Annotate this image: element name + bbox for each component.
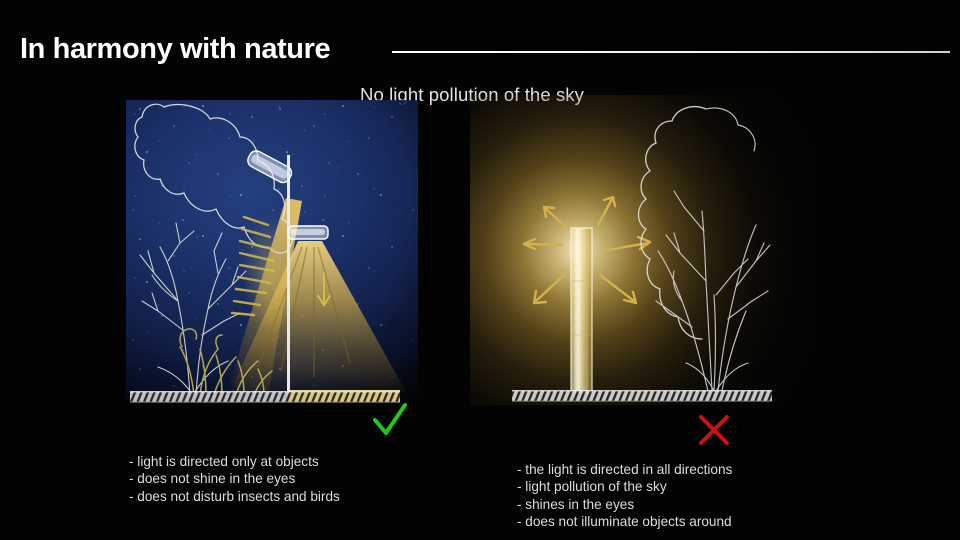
title-divider-rule	[392, 51, 950, 53]
right-drawbacks-list: - the light is directed in all direction…	[517, 461, 732, 530]
page-title: In harmony with nature	[20, 33, 330, 66]
arrow-right	[602, 237, 650, 251]
light-pole	[287, 155, 290, 395]
list-item: - shines in the eyes	[517, 496, 732, 513]
sketched-tree-right	[639, 107, 771, 391]
list-item: - does not shine in the eyes	[129, 470, 340, 487]
left-scene-drawing	[118, 95, 418, 415]
ground-strip-right	[512, 390, 772, 402]
ground-strip-left	[130, 390, 400, 403]
green-check-icon	[370, 402, 410, 440]
list-item: - light pollution of the sky	[517, 478, 732, 495]
right-illustration-panel	[470, 95, 810, 415]
slide-canvas: In harmony with nature No light pollutio…	[0, 0, 960, 540]
upper-luminaire-head	[245, 148, 294, 185]
right-scene-drawing	[470, 95, 810, 415]
list-item: - does not disturb insects and birds	[129, 488, 340, 505]
lower-luminaire-head	[288, 226, 328, 239]
red-cross-icon	[696, 412, 732, 448]
arrow-up-left	[544, 207, 566, 227]
bollard-lamp	[571, 228, 592, 393]
left-benefits-list: - light is directed only at objects - do…	[129, 453, 340, 505]
arrow-down-right	[600, 275, 636, 303]
arrow-down-left	[534, 275, 564, 303]
arrow-up-right	[598, 197, 615, 225]
left-illustration-panel	[118, 95, 418, 415]
arrow-left	[524, 239, 562, 249]
list-item: - light is directed only at objects	[129, 453, 340, 470]
list-item: - the light is directed in all direction…	[517, 461, 732, 478]
list-item: - does not illuminate objects around	[517, 513, 732, 530]
